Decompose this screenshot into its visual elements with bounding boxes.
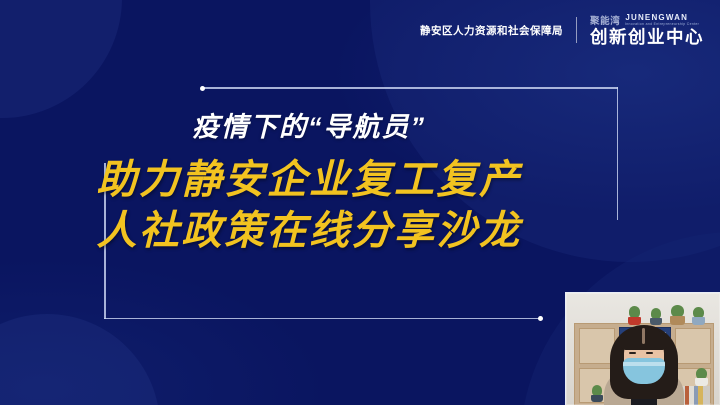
brand-english-tagline: Innovation and Entrepreneurship Center xyxy=(625,23,699,26)
presenter-hair-part xyxy=(642,328,645,344)
frame-line-bottom xyxy=(104,318,540,320)
frame-line-top xyxy=(202,87,618,89)
slide-header: 静安区人力资源和社会保障局 聚能湾 JUNENGWAN Innovation a… xyxy=(0,0,720,60)
potted-plant-top-4 xyxy=(692,308,705,325)
plant-pot xyxy=(692,317,705,325)
face-mask-band xyxy=(623,362,665,366)
headline-block: 疫情下的“导航员” 助力静安企业复工复产 人社政策在线分享沙龙 xyxy=(0,112,618,257)
presenter-figure xyxy=(602,321,686,405)
brand-english-wrap: JUNENGWAN Innovation and Entrepreneurshi… xyxy=(625,14,702,27)
organization-name: 静安区人力资源和社会保障局 xyxy=(420,23,563,38)
title-main-line-2: 人社政策在线分享沙龙 xyxy=(0,206,618,257)
header-divider xyxy=(576,17,577,43)
decorative-circle-bottom-left xyxy=(0,314,160,405)
plant-pot xyxy=(695,378,708,386)
presenter-video-panel[interactable] xyxy=(565,292,720,405)
brand-chinese-short: 聚能湾 xyxy=(590,17,620,27)
brand-chinese-name: 创新创业中心 xyxy=(590,29,704,47)
title-subtitle-line: 疫情下的“导航员” xyxy=(0,112,618,143)
brand-english-name: JUNENGWAN xyxy=(625,14,702,22)
brand-logo-top-row: 聚能湾 JUNENGWAN Innovation and Entrepreneu… xyxy=(590,14,703,27)
frame-dot-bottom-right xyxy=(538,316,543,321)
presenter-eye-left xyxy=(629,352,636,354)
potted-plant-shelf xyxy=(695,369,708,386)
brand-logo: 聚能湾 JUNENGWAN Innovation and Entrepreneu… xyxy=(590,14,704,46)
title-main-line-1: 助力静安企业复工复产 xyxy=(0,155,618,206)
presenter-eye-right xyxy=(646,352,653,354)
slide-canvas: 静安区人力资源和社会保障局 聚能湾 JUNENGWAN Innovation a… xyxy=(0,0,720,405)
frame-dot-top-left xyxy=(200,86,205,91)
